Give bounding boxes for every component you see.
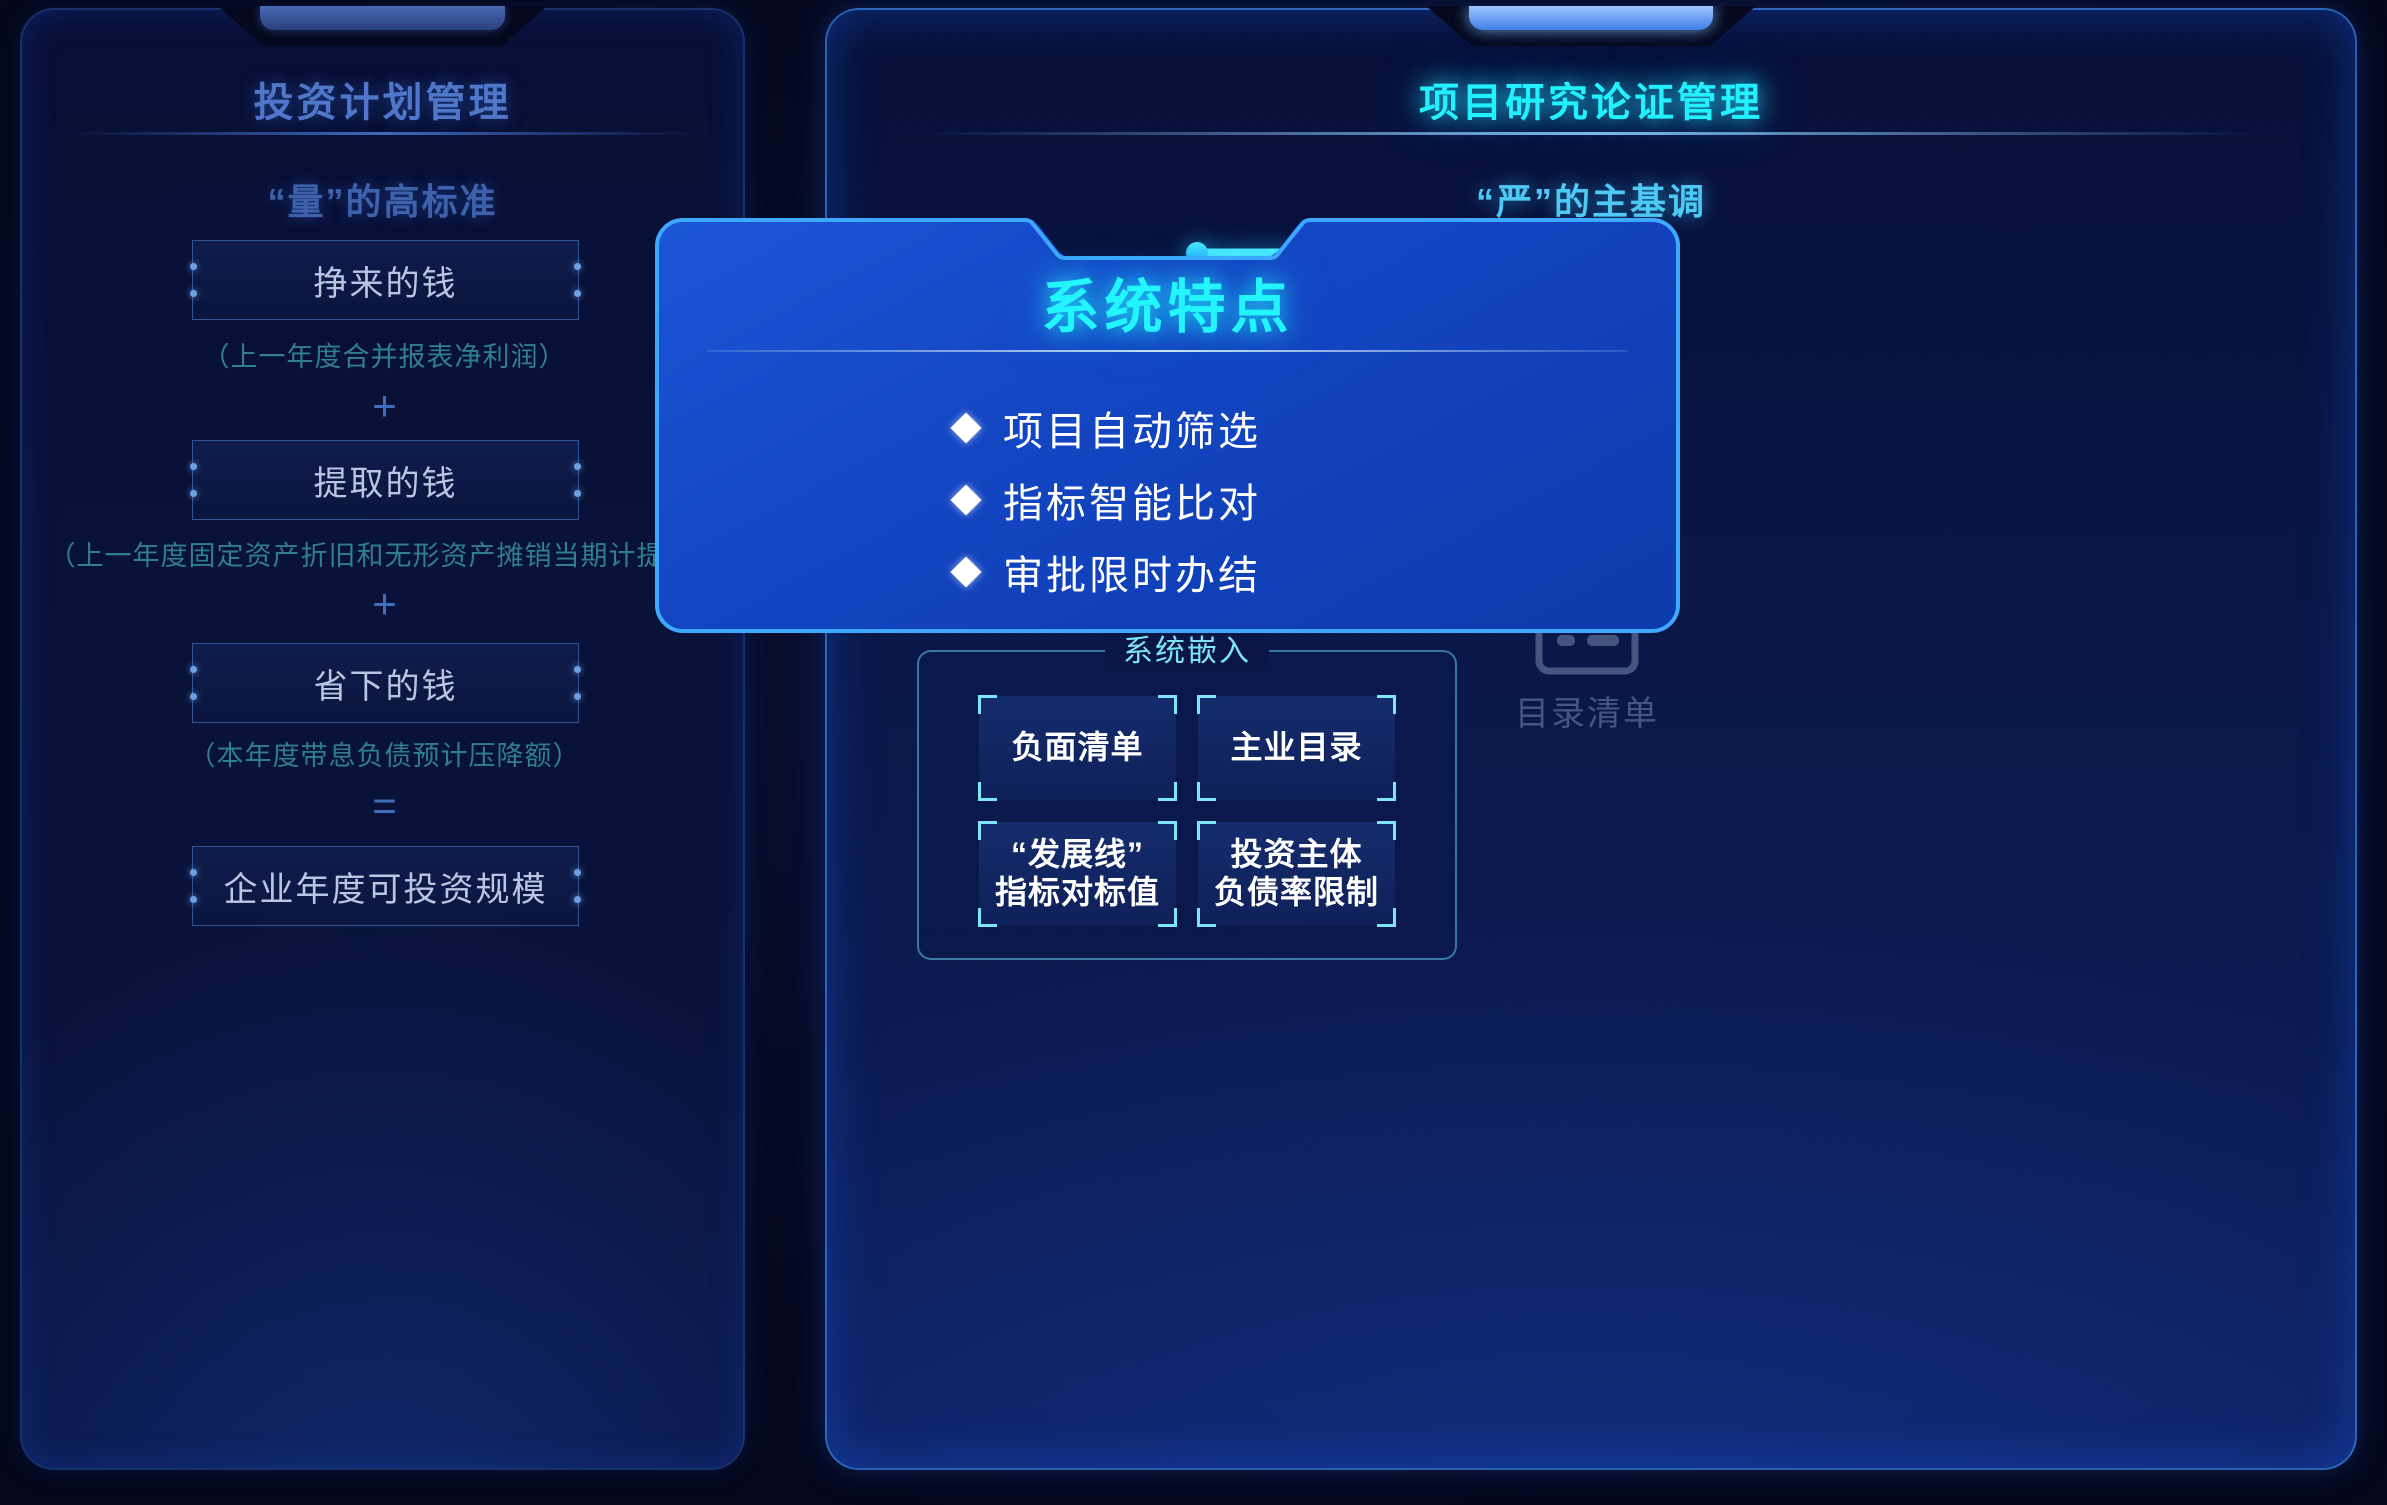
connector-nub: [574, 869, 581, 876]
folder-card-content: 系统特点 项目自动筛选 指标智能比对 审批限时办结: [655, 218, 1680, 633]
panel-left-divider: [65, 132, 700, 135]
corner-bracket-icon: [1197, 908, 1216, 927]
flow-box-label: 提取的钱: [314, 456, 458, 505]
corner-bracket-icon: [1377, 821, 1396, 840]
flow-operator-equals: =: [22, 785, 745, 827]
watermark-label: 目录清单: [1472, 686, 1702, 735]
feature-list-item-label: 审批限时办结: [1003, 543, 1261, 601]
panel-right-notch: [1426, 6, 1756, 46]
connector-nub: [190, 490, 197, 497]
connector-nub: [574, 463, 581, 470]
corner-bracket-icon: [1158, 821, 1177, 840]
panel-left-notch: [218, 6, 548, 46]
flow-box-annual-investment-scale[interactable]: 企业年度可投资规模: [192, 846, 579, 926]
diamond-bullet-icon: [950, 556, 981, 587]
embed-cell-investor-debt-ratio-limit[interactable]: 投资主体 负债率限制: [1198, 822, 1395, 926]
connector-nub: [574, 263, 581, 270]
connector-nub: [574, 896, 581, 903]
flow-operator-plus-1: +: [22, 385, 745, 427]
panel-left-body: 投资计划管理 “量”的高标准 挣来的钱 （上一年度合并报表净利润） + 提取的钱: [20, 8, 745, 1470]
flow-note-earned-money: （上一年度合并报表净利润）: [22, 335, 745, 374]
corner-bracket-icon: [978, 782, 997, 801]
embed-cell-label-line2: 指标对标值: [995, 874, 1160, 912]
flow-box-label: 省下的钱: [314, 659, 458, 708]
embed-cell-label-line1: 投资主体: [1214, 836, 1379, 874]
embed-cell-negative-list[interactable]: 负面清单: [979, 696, 1176, 800]
panel-investment-plan: 投资计划管理 “量”的高标准 挣来的钱 （上一年度合并报表净利润） + 提取的钱: [20, 8, 745, 1470]
feature-list-item[interactable]: 审批限时办结: [655, 542, 1680, 602]
connector-nub: [190, 693, 197, 700]
panel-right-divider: [919, 132, 2264, 135]
corner-bracket-icon: [1158, 782, 1177, 801]
corner-bracket-icon: [978, 908, 997, 927]
corner-bracket-icon: [1197, 782, 1216, 801]
panel-right-notch-bar: [1469, 6, 1713, 30]
system-embed-group: 系统嵌入 负面清单 主业目录: [917, 650, 1457, 960]
flow-operator-plus-2: +: [22, 583, 745, 625]
corner-bracket-icon: [1377, 695, 1396, 714]
flow-box-label: 挣来的钱: [314, 256, 458, 305]
folder-card-title: 系统特点: [655, 260, 1680, 344]
panel-right-title: 项目研究论证管理: [827, 70, 2355, 128]
connector-nub: [190, 263, 197, 270]
system-embed-grid: 负面清单 主业目录 “: [979, 696, 1395, 926]
corner-bracket-icon: [1158, 908, 1177, 927]
corner-bracket-icon: [1377, 908, 1396, 927]
connector-nub: [190, 869, 197, 876]
embed-cell-label: 主业目录: [1230, 729, 1362, 767]
flow-note-saved-money: （本年度带息负债预计压降额）: [22, 734, 745, 773]
diamond-bullet-icon: [950, 484, 981, 515]
connector-nub: [190, 463, 197, 470]
feature-list-item-label: 指标智能比对: [1003, 471, 1261, 529]
feature-list-item[interactable]: 指标智能比对: [655, 470, 1680, 530]
connector-nub: [574, 693, 581, 700]
embed-cell-text: “发展线” 指标对标值: [995, 836, 1160, 912]
corner-bracket-icon: [1377, 782, 1396, 801]
embed-cell-label: 负面清单: [1011, 729, 1143, 767]
corner-bracket-icon: [1158, 695, 1177, 714]
flow-box-saved-money[interactable]: 省下的钱: [192, 643, 579, 723]
connector-nub: [574, 490, 581, 497]
embed-cell-text: 投资主体 负债率限制: [1214, 836, 1379, 912]
connector-nub: [190, 896, 197, 903]
connector-nub: [190, 290, 197, 297]
feature-list-item-label: 项目自动筛选: [1003, 399, 1261, 457]
diamond-bullet-icon: [950, 412, 981, 443]
panel-left-subhead: “量”的高标准: [22, 173, 743, 225]
system-features-folder-card[interactable]: 系统特点 项目自动筛选 指标智能比对 审批限时办结: [655, 218, 1680, 633]
corner-bracket-icon: [1197, 695, 1216, 714]
corner-bracket-icon: [1197, 821, 1216, 840]
flow-box-earned-money[interactable]: 挣来的钱: [192, 240, 579, 320]
embed-cell-development-line-benchmark[interactable]: “发展线” 指标对标值: [979, 822, 1176, 926]
feature-list-item[interactable]: 项目自动筛选: [655, 398, 1680, 458]
connector-nub: [574, 666, 581, 673]
flow-box-withdrawn-money[interactable]: 提取的钱: [192, 440, 579, 520]
corner-bracket-icon: [978, 695, 997, 714]
flow-note-withdrawn-money: （上一年度固定资产折旧和无形资产摊销当期计提额）: [22, 534, 745, 573]
embed-cell-label-line1: “发展线”: [995, 836, 1160, 874]
folder-card-feature-list: 项目自动筛选 指标智能比对 审批限时办结: [655, 398, 1680, 614]
embed-cell-main-business-catalog[interactable]: 主业目录: [1198, 696, 1395, 800]
slide-stage: 投资计划管理 “量”的高标准 挣来的钱 （上一年度合并报表净利润） + 提取的钱: [0, 0, 2387, 1505]
connector-nub: [190, 666, 197, 673]
panel-left-notch-bar: [260, 6, 504, 30]
folder-card-divider: [707, 350, 1628, 352]
flow-box-label: 企业年度可投资规模: [224, 862, 548, 911]
embed-cell-label-line2: 负债率限制: [1214, 874, 1379, 912]
panel-left-title: 投资计划管理: [22, 70, 743, 128]
corner-bracket-icon: [978, 821, 997, 840]
connector-nub: [574, 290, 581, 297]
